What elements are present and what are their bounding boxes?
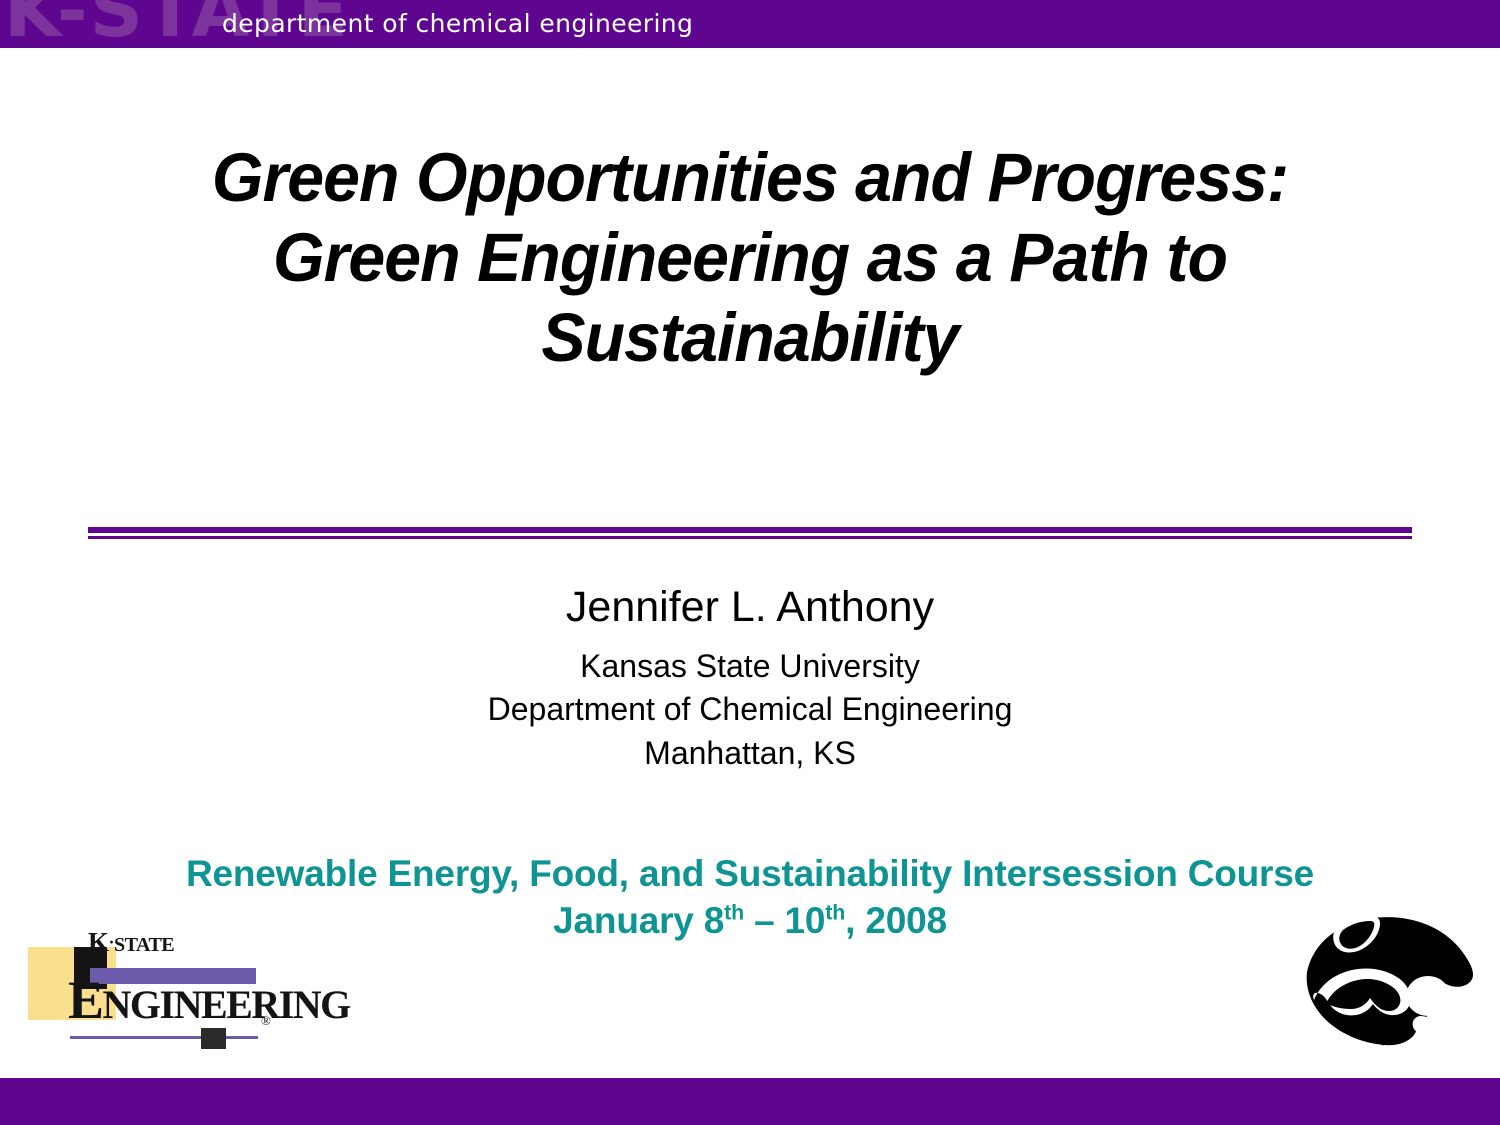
- affiliation-line-university: Kansas State University: [150, 645, 1350, 688]
- affiliation-line-city: Manhattan, KS: [150, 732, 1350, 775]
- affiliation-line-department: Department of Chemical Engineering: [150, 688, 1350, 731]
- affiliation-block: Kansas State University Department of Ch…: [150, 645, 1350, 775]
- header-banner: K-STATE department of chemical engineeri…: [0, 0, 1500, 48]
- logo-kstate-text: K·STATE: [88, 929, 174, 956]
- divider: [88, 527, 1412, 539]
- logo-underline-square: [201, 1028, 226, 1049]
- title-line-3: Sustainability: [78, 298, 1422, 378]
- logo-underline: [70, 1036, 258, 1039]
- course-date-suffix: , 2008: [845, 900, 947, 941]
- divider-thin-rule: [88, 536, 1412, 539]
- page-title: Green Opportunities and Progress: Green …: [50, 138, 1450, 378]
- author-block: Jennifer L. Anthony Kansas State Univers…: [150, 583, 1350, 775]
- department-label: department of chemical engineering: [222, 11, 693, 36]
- course-name: Renewable Energy, Food, and Sustainabili…: [50, 850, 1450, 897]
- course-date-ordinal-2: th: [825, 901, 845, 925]
- footer-banner: [0, 1078, 1500, 1125]
- author-name: Jennifer L. Anthony: [150, 583, 1350, 631]
- powercat-logo-icon: [1300, 912, 1475, 1060]
- presentation-slide: K-STATE department of chemical engineeri…: [0, 0, 1500, 1125]
- logo-engineering-text: ENGINEERING: [68, 973, 350, 1027]
- title-line-1: Green Opportunities and Progress:: [78, 138, 1422, 218]
- course-date-mid: – 10: [744, 900, 825, 941]
- course-date-ordinal-1: th: [724, 901, 744, 925]
- kstate-engineering-logo: K·STATE ENGINEERING ®: [18, 925, 306, 1058]
- registered-mark-icon: ®: [261, 1013, 271, 1029]
- course-date-prefix: January 8: [553, 900, 724, 941]
- title-line-2: Green Engineering as a Path to: [78, 218, 1422, 298]
